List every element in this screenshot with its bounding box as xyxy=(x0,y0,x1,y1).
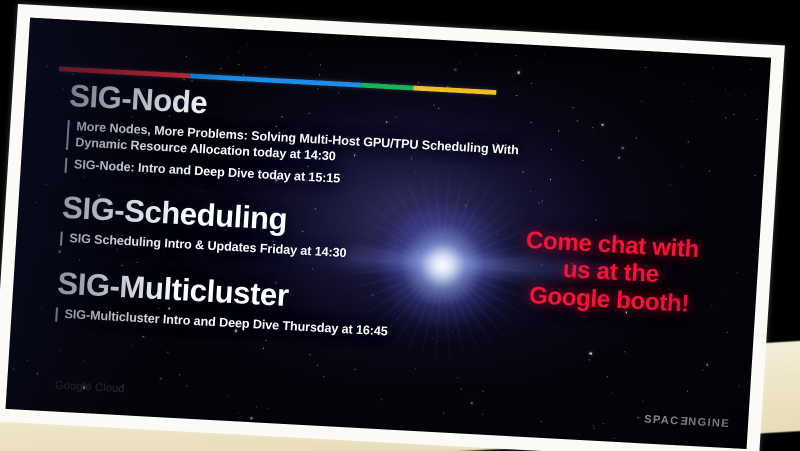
space-engine-mirrored-e: E xyxy=(679,415,688,427)
space-engine-watermark: SPACENGINE xyxy=(644,413,731,430)
cta-come-chat: Come chat with us at the Google booth! xyxy=(501,226,721,320)
sig-group-node: SIG-Node More Nodes, More Problems: Solv… xyxy=(65,80,549,198)
google-cloud-watermark: Google Cloud xyxy=(55,380,125,396)
slide-screen: SIG-Node More Nodes, More Problems: Solv… xyxy=(6,18,772,449)
session-bar-icon xyxy=(66,120,70,150)
presentation-display: SIG-Node More Nodes, More Problems: Solv… xyxy=(0,4,785,451)
space-engine-prefix: SPAC xyxy=(644,413,680,427)
screenshot-stage: SIG-Node More Nodes, More Problems: Solv… xyxy=(0,0,800,451)
sig-group-scheduling: SIG-Scheduling SIG Scheduling Intro & Up… xyxy=(60,192,349,262)
session-bar-icon xyxy=(55,308,58,322)
session-bar-icon xyxy=(65,158,68,172)
session-bar-icon xyxy=(60,232,63,246)
sig-group-multicluster: SIG-Multicluster SIG-Multicluster Intro … xyxy=(55,268,390,340)
space-engine-suffix: NGINE xyxy=(688,416,731,430)
slide-content: SIG-Node More Nodes, More Problems: Solv… xyxy=(6,18,772,449)
